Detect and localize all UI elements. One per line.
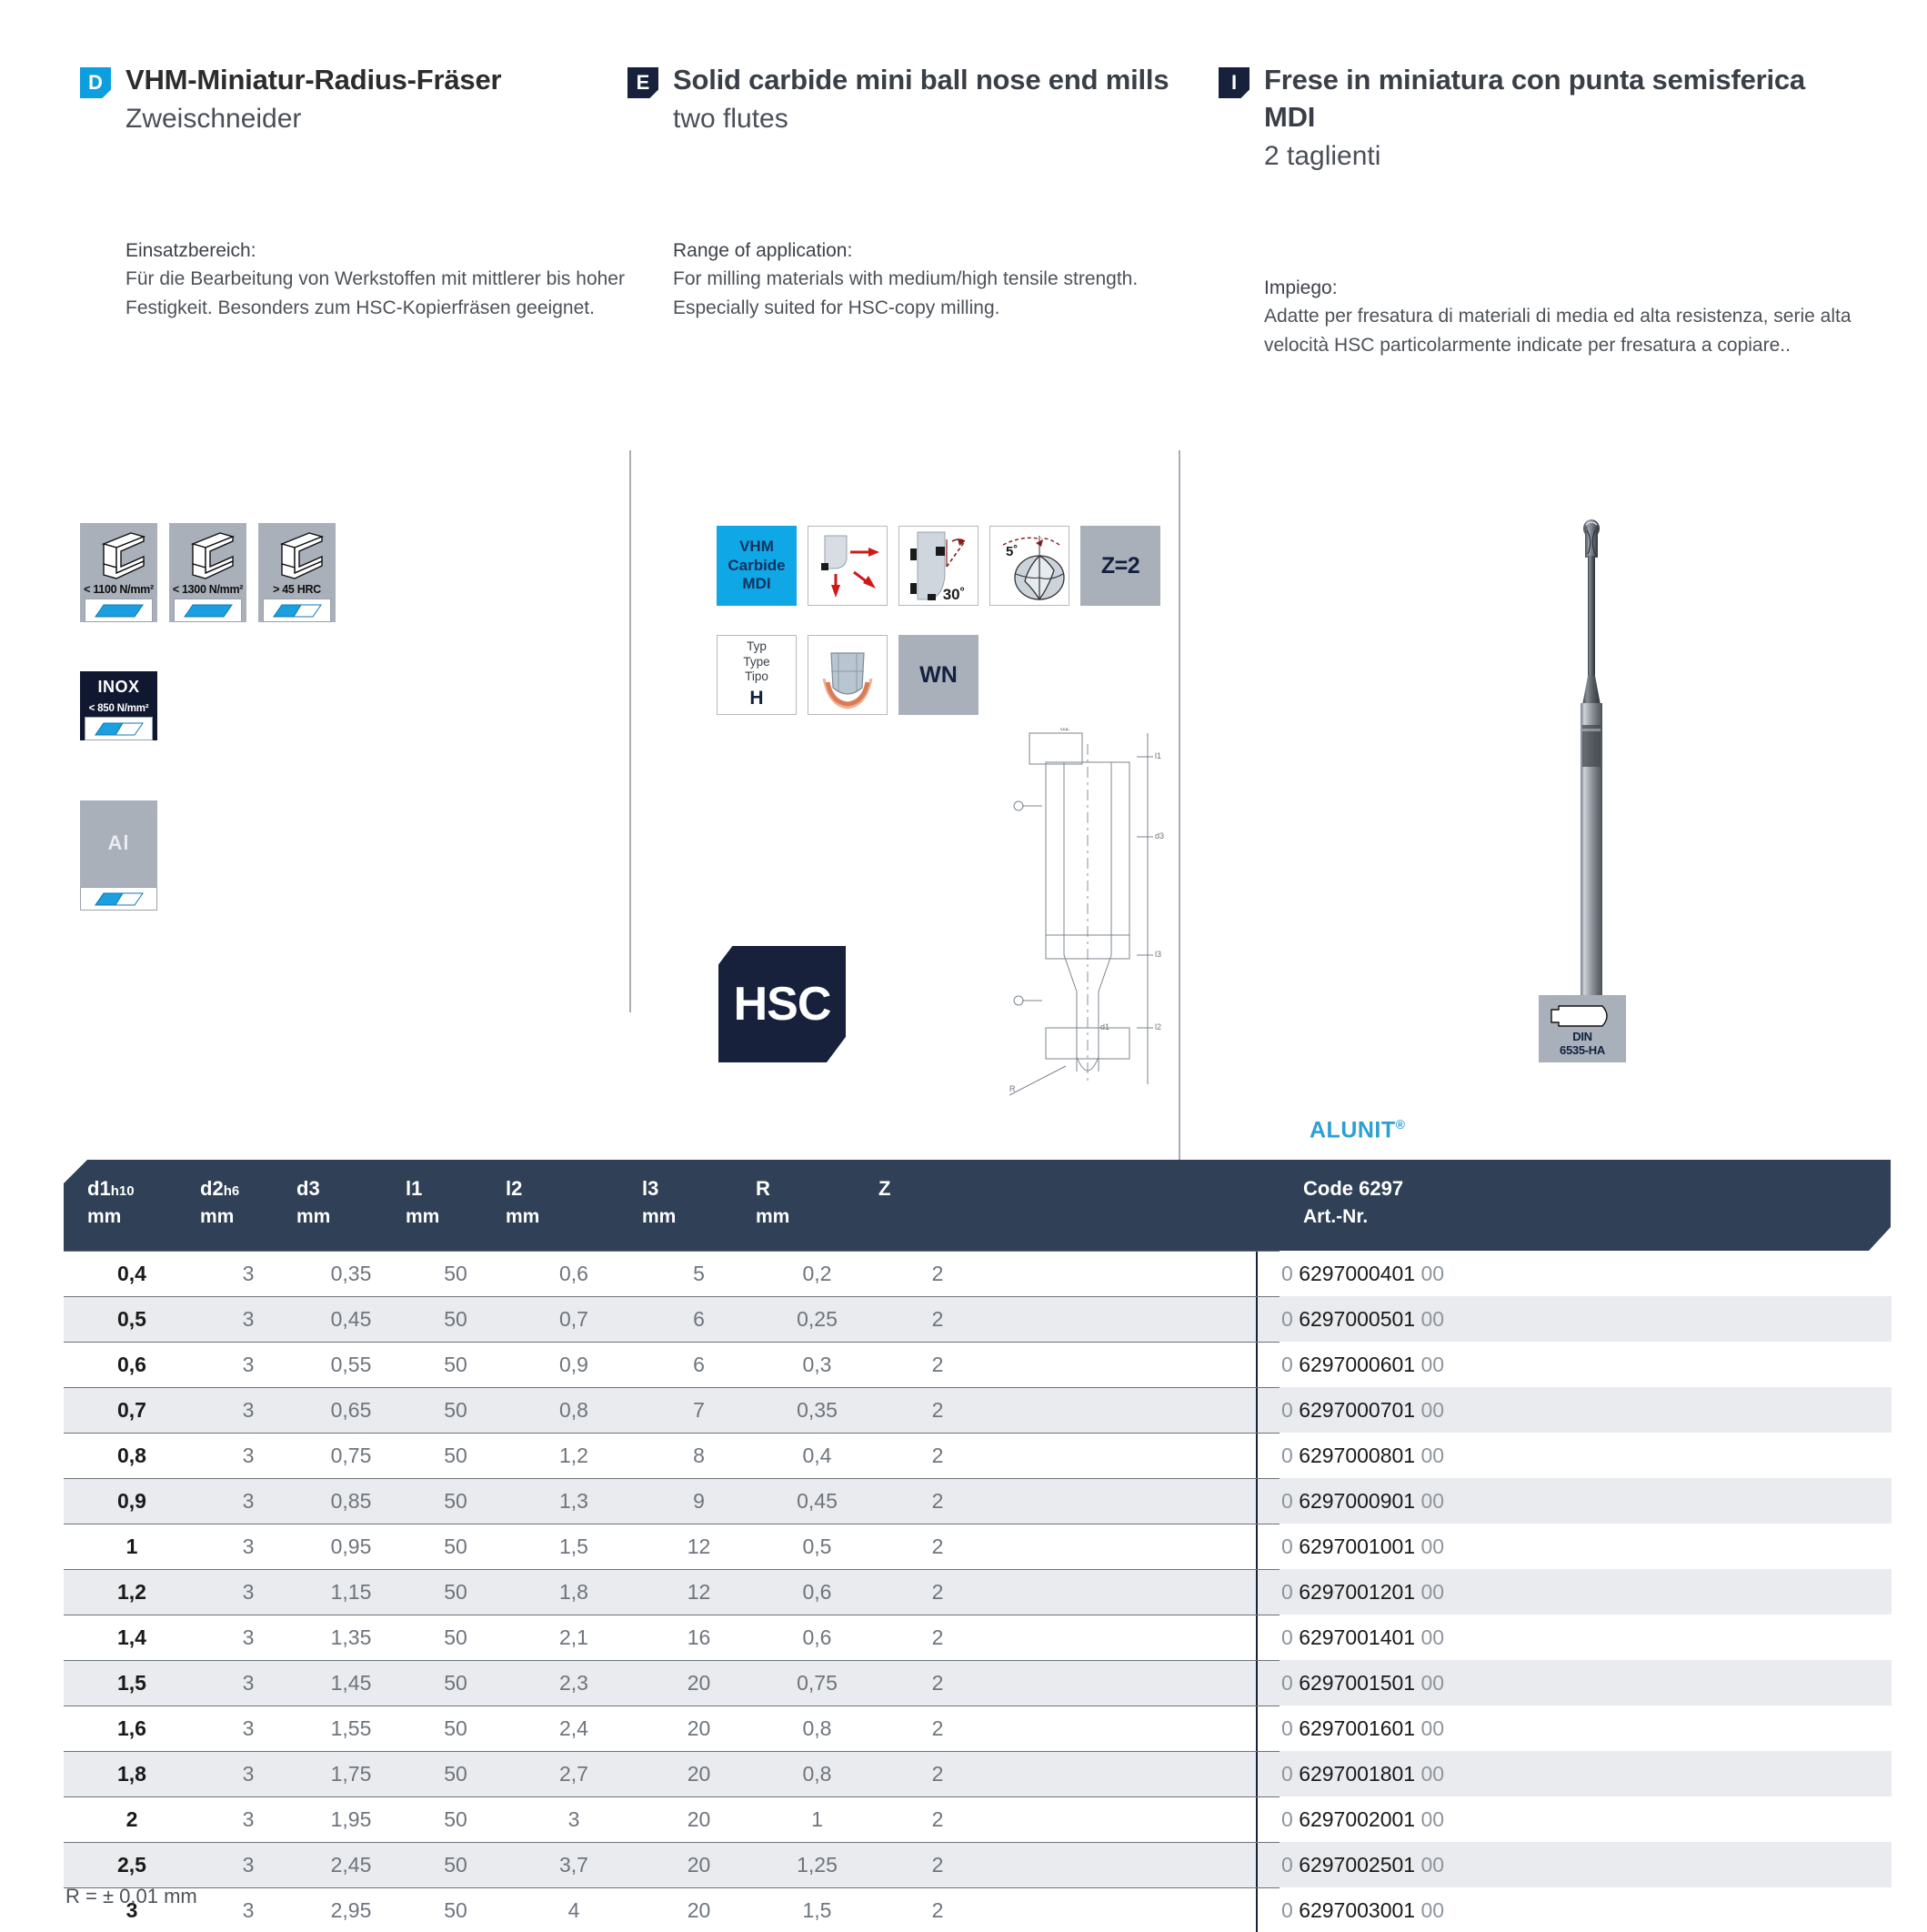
- type-label-de: Typ: [743, 639, 769, 654]
- header-code: Code 6297 Art.-Nr.: [1303, 1174, 1403, 1231]
- title-line-de: D VHM-Miniatur-Radius-Fräser: [80, 62, 635, 99]
- coating-brand-label: ALUNIT®: [1310, 1117, 1405, 1143]
- header-d3-unit: mm: [296, 1203, 406, 1231]
- cell-l1: 50: [406, 1807, 506, 1832]
- cell-l2: 0,9: [506, 1353, 642, 1377]
- cell-article-number: 0 6297002001 00: [1256, 1796, 1892, 1842]
- cell-l3: 20: [642, 1853, 756, 1877]
- cell-l1: 50: [406, 1489, 506, 1514]
- cell-d1: 1,5: [64, 1671, 200, 1696]
- cell-l3: 20: [642, 1898, 756, 1923]
- inox-strength-label: < 850 N/mm²: [89, 703, 149, 714]
- cell-r: 0,3: [756, 1353, 878, 1377]
- cell-d1: 1,4: [64, 1625, 200, 1650]
- rake-angle-glyph: 5˚: [990, 527, 1069, 605]
- article-prefix: 0: [1281, 1398, 1299, 1422]
- cell-l3: 20: [642, 1762, 756, 1786]
- article-prefix: 0: [1281, 1762, 1299, 1786]
- cell-r: 1,25: [756, 1853, 878, 1877]
- row-separator: [64, 1524, 1280, 1524]
- cell-r: 0,75: [756, 1671, 878, 1696]
- article-suffix: 00: [1415, 1262, 1444, 1285]
- application-text-it: Adatte per fresatura di materiali di med…: [1264, 302, 1855, 360]
- row-separator: [64, 1796, 1280, 1797]
- header-l2: l2 mm: [506, 1174, 642, 1231]
- cell-r: 0,8: [756, 1716, 878, 1741]
- application-heading-en: Range of application:: [673, 236, 1209, 266]
- cell-d3: 0,45: [296, 1307, 406, 1332]
- cell-z: 2: [878, 1671, 997, 1696]
- coating-glyph: [811, 639, 884, 711]
- cell-z: 2: [878, 1762, 997, 1786]
- article-main: 6297000401: [1299, 1262, 1415, 1285]
- cell-l2: 0,8: [506, 1398, 642, 1423]
- cell-l1: 50: [406, 1762, 506, 1786]
- dim-d1: d1: [1100, 1022, 1109, 1031]
- product-title-en: Solid carbide mini ball nose end mills: [673, 62, 1169, 99]
- article-suffix: 00: [1415, 1807, 1444, 1831]
- suitability-bar: [85, 717, 153, 740]
- cell-l3: 20: [642, 1807, 756, 1832]
- cell-d1: 1,8: [64, 1762, 200, 1786]
- row-separator: [64, 1887, 1280, 1888]
- article-suffix: 00: [1415, 1671, 1444, 1695]
- article-suffix: 00: [1415, 1535, 1444, 1558]
- article-main: 6297001001: [1299, 1535, 1415, 1558]
- cell-l3: 8: [642, 1444, 756, 1468]
- header-d1: d1h10 mm: [64, 1174, 200, 1231]
- article-prefix: 0: [1281, 1262, 1299, 1285]
- article-prefix: 0: [1281, 1716, 1299, 1740]
- flute-count-label: Z=2: [1101, 553, 1139, 579]
- rake-angle-icon: 5˚: [989, 526, 1069, 606]
- header-d2: d2h6 mm: [200, 1174, 296, 1231]
- table-row: 0,430,35500,650,220 6297000401 00: [64, 1251, 1892, 1296]
- type-icon: Typ Type Tipo H: [717, 635, 797, 715]
- article-main: 6297001601: [1299, 1716, 1415, 1740]
- cell-d1: 2,5: [64, 1853, 200, 1877]
- hsc-badge: HSC: [718, 946, 846, 1062]
- header-l3-name: l3: [642, 1177, 658, 1200]
- cell-d3: 0,95: [296, 1535, 406, 1559]
- cell-z: 2: [878, 1489, 997, 1514]
- column-divider-left: [629, 450, 631, 1012]
- tool-dimension-drawing: d2 l1 d3 l3 l2 R d1: [1009, 728, 1273, 1110]
- article-suffix: 00: [1415, 1398, 1444, 1422]
- cell-d1: 0,7: [64, 1398, 200, 1423]
- suitability-bar: [85, 599, 153, 622]
- cell-d2: 3: [200, 1807, 296, 1832]
- cell-article-number: 0 6297001201 00: [1256, 1569, 1892, 1615]
- cell-z: 2: [878, 1898, 997, 1923]
- article-prefix: 0: [1281, 1807, 1299, 1831]
- feature-icon-row-1: VHM Carbide MDI: [717, 526, 1160, 606]
- suitability-bar: [80, 887, 157, 911]
- cell-l1: 50: [406, 1853, 506, 1877]
- cell-z: 2: [878, 1307, 997, 1332]
- cell-l3: 12: [642, 1580, 756, 1605]
- cell-d2: 3: [200, 1398, 296, 1423]
- cell-d1: 2: [64, 1807, 200, 1832]
- dim-l3: l3: [1155, 950, 1161, 959]
- cell-z: 2: [878, 1262, 997, 1286]
- din-line-2: 6535-HA: [1560, 1043, 1605, 1057]
- cell-l3: 20: [642, 1716, 756, 1741]
- language-column-it: I Frese in miniatura con punta semisferi…: [1219, 62, 1855, 360]
- cell-l2: 0,6: [506, 1262, 642, 1286]
- rake-angle-value: 5˚: [1006, 544, 1018, 559]
- hsc-label: HSC: [734, 977, 831, 1031]
- header-code-line-1: Code 6297: [1303, 1177, 1403, 1200]
- cell-d1: 0,6: [64, 1353, 200, 1377]
- cell-z: 2: [878, 1853, 997, 1877]
- dim-l2: l2: [1155, 1022, 1161, 1031]
- language-column-de: D VHM-Miniatur-Radius-Fräser Zweischneid…: [80, 62, 635, 323]
- row-separator: [64, 1706, 1280, 1706]
- helix-angle-icon: 30˚: [898, 526, 979, 606]
- material-label: < 1100 N/mm²: [84, 583, 154, 596]
- cell-r: 0,5: [756, 1535, 878, 1559]
- header-d2-unit: mm: [200, 1203, 296, 1231]
- cell-z: 2: [878, 1625, 997, 1650]
- cell-r: 0,35: [756, 1398, 878, 1423]
- cell-r: 0,2: [756, 1262, 878, 1286]
- cell-l2: 0,7: [506, 1307, 642, 1332]
- article-suffix: 00: [1415, 1353, 1444, 1376]
- article-prefix: 0: [1281, 1535, 1299, 1558]
- cell-d2: 3: [200, 1671, 296, 1696]
- cell-l2: 2,1: [506, 1625, 642, 1650]
- table-header-dimensions: d1h10 mm d2h6 mm d3 mm l1 mm l2 mm: [64, 1160, 1280, 1251]
- cell-l1: 50: [406, 1444, 506, 1468]
- dim-l1: l1: [1155, 751, 1161, 760]
- steel-beam-icon: [269, 528, 326, 582]
- cell-d3: 2,95: [296, 1898, 406, 1923]
- cell-d2: 3: [200, 1535, 296, 1559]
- row-separator: [64, 1842, 1280, 1843]
- cell-l1: 50: [406, 1580, 506, 1605]
- article-prefix: 0: [1281, 1307, 1299, 1331]
- vhm-line-2: Carbide: [728, 557, 785, 576]
- cell-d1: 1,6: [64, 1716, 200, 1741]
- cell-l1: 50: [406, 1898, 506, 1923]
- header-z: Z: [878, 1174, 997, 1203]
- table-row: 1,531,45502,3200,7520 6297001501 00: [64, 1660, 1892, 1706]
- article-prefix: 0: [1281, 1353, 1299, 1376]
- material-icon-aluminium: Al: [80, 800, 157, 911]
- cell-z: 2: [878, 1398, 997, 1423]
- cell-d3: 1,45: [296, 1671, 406, 1696]
- dimension-table: d1h10 mm d2h6 mm d3 mm l1 mm l2 mm: [64, 1160, 1892, 1932]
- article-suffix: 00: [1415, 1898, 1444, 1922]
- row-separator: [64, 1751, 1280, 1752]
- cell-d2: 3: [200, 1489, 296, 1514]
- material-icon-45hrc: > 45 HRC: [258, 523, 336, 622]
- article-prefix: 0: [1281, 1580, 1299, 1604]
- material-icon-inox: INOX < 850 N/mm²: [80, 671, 157, 740]
- cell-r: 1: [756, 1807, 878, 1832]
- table-row: 1,231,15501,8120,620 6297001201 00: [64, 1569, 1892, 1615]
- header-l1: l1 mm: [406, 1174, 506, 1231]
- article-prefix: 0: [1281, 1444, 1299, 1467]
- article-main: 6297000701: [1299, 1398, 1415, 1422]
- cell-d2: 3: [200, 1716, 296, 1741]
- suitability-half-icon: [95, 722, 144, 736]
- cell-d2: 3: [200, 1762, 296, 1786]
- table-header-row: d1h10 mm d2h6 mm d3 mm l1 mm l2 mm: [64, 1160, 1892, 1251]
- article-suffix: 00: [1415, 1625, 1444, 1649]
- dim-d2: d2: [1060, 728, 1069, 732]
- suitability-half-icon: [273, 604, 322, 618]
- material-icon-1100: < 1100 N/mm²: [80, 523, 157, 622]
- cell-d3: 0,85: [296, 1489, 406, 1514]
- cell-article-number: 0 6297000801 00: [1256, 1433, 1892, 1478]
- cell-r: 0,25: [756, 1307, 878, 1332]
- cell-d2: 3: [200, 1625, 296, 1650]
- article-prefix: 0: [1281, 1671, 1299, 1695]
- milling-direction-icon: [808, 526, 888, 606]
- table-row: 231,9550320120 6297002001 00: [64, 1796, 1892, 1842]
- cell-d3: 0,75: [296, 1444, 406, 1468]
- header-l3: l3 mm: [642, 1174, 756, 1231]
- header-d1-name: d1: [87, 1177, 111, 1200]
- header-l3-unit: mm: [642, 1203, 756, 1231]
- header-d2-tolerance: h6: [224, 1183, 240, 1199]
- table-row: 130,95501,5120,520 6297001001 00: [64, 1524, 1892, 1569]
- vhm-line-1: VHM: [728, 538, 785, 557]
- header-r-name: R: [756, 1177, 770, 1200]
- vhm-carbide-mdi-label: VHM Carbide MDI: [728, 538, 785, 594]
- cell-d2: 3: [200, 1580, 296, 1605]
- cell-d2: 3: [200, 1898, 296, 1923]
- language-badge-de: D: [80, 67, 111, 98]
- table-row: 1,431,35502,1160,620 6297001401 00: [64, 1615, 1892, 1660]
- cell-d1: 0,5: [64, 1307, 200, 1332]
- table-row: 332,95504201,520 6297003001 00: [64, 1887, 1892, 1932]
- shank-icon: [1550, 1002, 1615, 1030]
- article-main: 6297001801: [1299, 1762, 1415, 1786]
- table-footnote: R = ± 0,01 mm: [65, 1885, 197, 1908]
- cell-l1: 50: [406, 1625, 506, 1650]
- article-main: 6297002001: [1299, 1807, 1415, 1831]
- row-separator: [64, 1569, 1280, 1570]
- cell-l3: 5: [642, 1262, 756, 1286]
- cell-article-number: 0 6297000501 00: [1256, 1296, 1892, 1342]
- suitability-full-icon: [184, 604, 233, 618]
- cell-z: 2: [878, 1535, 997, 1559]
- article-main: 6297000501: [1299, 1307, 1415, 1331]
- table-row: 0,830,75501,280,420 6297000801 00: [64, 1433, 1892, 1478]
- article-main: 6297000801: [1299, 1444, 1415, 1467]
- article-suffix: 00: [1415, 1489, 1444, 1513]
- article-main: 6297000901: [1299, 1489, 1415, 1513]
- inox-label: INOX: [97, 678, 139, 697]
- application-block-it: Impiego: Adatte per fresatura di materia…: [1264, 274, 1855, 360]
- material-suitability-icons: < 1100 N/mm² < 1300 N/mm²: [80, 523, 336, 622]
- cell-d3: 0,65: [296, 1398, 406, 1423]
- helix-angle-value: 30˚: [943, 586, 966, 603]
- cell-l3: 20: [642, 1671, 756, 1696]
- row-separator: [64, 1478, 1280, 1479]
- header-l2-unit: mm: [506, 1203, 642, 1231]
- table-header-article: Code 6297 Art.-Nr.: [1280, 1160, 1891, 1251]
- header-d1-unit: mm: [87, 1203, 200, 1231]
- cell-l3: 7: [642, 1398, 756, 1423]
- din-shank-badge: DIN 6535-HA: [1539, 995, 1626, 1062]
- cell-l2: 2,3: [506, 1671, 642, 1696]
- catalog-page: D VHM-Miniatur-Radius-Fräser Zweischneid…: [0, 0, 1927, 1932]
- article-suffix: 00: [1415, 1716, 1444, 1740]
- vhm-carbide-mdi-icon: VHM Carbide MDI: [717, 526, 797, 606]
- dim-d3: d3: [1155, 831, 1164, 840]
- cell-d3: 1,15: [296, 1580, 406, 1605]
- application-block-de: Einsatzbereich: Für die Bearbeitung von …: [125, 236, 635, 323]
- cell-l2: 3: [506, 1807, 642, 1832]
- article-main: 6297001501: [1299, 1671, 1415, 1695]
- cell-l1: 50: [406, 1671, 506, 1696]
- type-label-en: Type: [743, 655, 769, 669]
- suitability-bar: [263, 599, 331, 622]
- table-row: 2,532,45503,7201,2520 6297002501 00: [64, 1842, 1892, 1887]
- steel-beam-icon: [91, 528, 147, 582]
- cell-d2: 3: [200, 1353, 296, 1377]
- wn-icon: WN: [898, 635, 979, 715]
- header-r-unit: mm: [756, 1203, 878, 1231]
- cell-d2: 3: [200, 1853, 296, 1877]
- cell-d3: 1,75: [296, 1762, 406, 1786]
- table-row: 1,831,75502,7200,820 6297001801 00: [64, 1751, 1892, 1796]
- language-header-row: D VHM-Miniatur-Radius-Fräser Zweischneid…: [0, 0, 1927, 473]
- type-stack: Typ Type Tipo H: [743, 639, 769, 709]
- product-subtitle-de: Zweischneider: [125, 101, 635, 136]
- cell-z: 2: [878, 1807, 997, 1832]
- cell-z: 2: [878, 1716, 997, 1741]
- din-line-1: DIN: [1572, 1030, 1592, 1043]
- steel-beam-icon: [180, 528, 236, 582]
- article-suffix: 00: [1415, 1307, 1444, 1331]
- cell-l2: 1,5: [506, 1535, 642, 1559]
- cell-d1: 0,9: [64, 1489, 200, 1514]
- cell-d1: 1,2: [64, 1580, 200, 1605]
- vhm-line-3: MDI: [728, 575, 785, 594]
- cell-z: 2: [878, 1353, 997, 1377]
- article-prefix: 0: [1281, 1625, 1299, 1649]
- product-subtitle-en: two flutes: [673, 101, 1209, 136]
- cell-r: 0,8: [756, 1762, 878, 1786]
- language-column-en: E Solid carbide mini ball nose end mills…: [627, 62, 1209, 323]
- header-d3-name: d3: [296, 1177, 320, 1200]
- cell-l3: 12: [642, 1535, 756, 1559]
- article-suffix: 00: [1415, 1580, 1444, 1604]
- row-separator: [64, 1387, 1280, 1388]
- feature-icon-row-2: Typ Type Tipo H WN: [717, 635, 979, 715]
- header-z-name: Z: [878, 1177, 890, 1200]
- row-separator: [64, 1660, 1280, 1661]
- cell-r: 0,45: [756, 1489, 878, 1514]
- row-separator: [64, 1615, 1280, 1615]
- cell-l3: 6: [642, 1307, 756, 1332]
- cell-l1: 50: [406, 1398, 506, 1423]
- article-suffix: 00: [1415, 1762, 1444, 1786]
- article-prefix: 0: [1281, 1489, 1299, 1513]
- cell-d3: 1,95: [296, 1807, 406, 1832]
- cell-l1: 50: [406, 1353, 506, 1377]
- header-d1-tolerance: h10: [111, 1183, 135, 1199]
- cell-l3: 9: [642, 1489, 756, 1514]
- article-suffix: 00: [1415, 1853, 1444, 1877]
- header-l1-unit: mm: [406, 1203, 506, 1231]
- cell-article-number: 0 6297002501 00: [1256, 1842, 1892, 1887]
- table-body: 0,430,35500,650,220 6297000401 000,530,4…: [64, 1251, 1892, 1932]
- cell-r: 1,5: [756, 1898, 878, 1923]
- title-line-it: I Frese in miniatura con punta semisferi…: [1219, 62, 1855, 136]
- product-subtitle-it: 2 taglienti: [1264, 138, 1855, 174]
- coating-brand-text: ALUNIT: [1310, 1117, 1396, 1142]
- table-row: 1,631,55502,4200,820 6297001601 00: [64, 1706, 1892, 1751]
- cell-r: 0,6: [756, 1580, 878, 1605]
- cell-d3: 1,55: [296, 1716, 406, 1741]
- cell-article-number: 0 6297001501 00: [1256, 1660, 1892, 1706]
- application-heading-de: Einsatzbereich:: [125, 236, 635, 266]
- cell-d3: 2,45: [296, 1853, 406, 1877]
- cell-l3: 16: [642, 1625, 756, 1650]
- header-code-line-2: Art.-Nr.: [1303, 1203, 1403, 1231]
- cell-l2: 3,7: [506, 1853, 642, 1877]
- language-badge-it: I: [1219, 67, 1250, 98]
- article-main: 6297001401: [1299, 1625, 1415, 1649]
- header-l2-name: l2: [506, 1177, 522, 1200]
- article-suffix: 00: [1415, 1444, 1444, 1467]
- cell-d3: 0,35: [296, 1262, 406, 1286]
- row-separator: [64, 1296, 1280, 1297]
- table-row: 0,530,45500,760,2520 6297000501 00: [64, 1296, 1892, 1342]
- cell-article-number: 0 6297000601 00: [1256, 1342, 1892, 1387]
- header-l1-name: l1: [406, 1177, 422, 1200]
- article-main: 6297002501: [1299, 1853, 1415, 1877]
- cell-l2: 2,4: [506, 1716, 642, 1741]
- helix-angle-glyph: 30˚: [899, 527, 978, 605]
- article-main: 6297000601: [1299, 1353, 1415, 1376]
- cell-d2: 3: [200, 1444, 296, 1468]
- product-title-de: VHM-Miniatur-Radius-Fräser: [125, 62, 501, 99]
- cell-d1: 0,4: [64, 1262, 200, 1286]
- cell-d1: 0,8: [64, 1444, 200, 1468]
- material-icon-1300: < 1300 N/mm²: [169, 523, 246, 622]
- cell-l2: 2,7: [506, 1762, 642, 1786]
- cell-l1: 50: [406, 1307, 506, 1332]
- suitability-bar: [174, 599, 242, 622]
- suitability-full-icon: [95, 604, 144, 618]
- cell-l1: 50: [406, 1535, 506, 1559]
- product-title-it: Frese in miniatura con punta semisferica…: [1264, 62, 1855, 136]
- cell-d2: 3: [200, 1262, 296, 1286]
- cell-l3: 6: [642, 1353, 756, 1377]
- cell-article-number: 0 6297001001 00: [1256, 1524, 1892, 1569]
- row-separator: [64, 1251, 1280, 1252]
- cell-r: 0,6: [756, 1625, 878, 1650]
- application-text-en: For milling materials with medium/high t…: [673, 265, 1209, 323]
- header-d2-name: d2: [200, 1177, 224, 1200]
- aluminium-label: Al: [108, 831, 130, 884]
- application-text-de: Für die Bearbeitung von Werkstoffen mit …: [125, 265, 635, 323]
- application-block-en: Range of application: For milling materi…: [673, 236, 1209, 323]
- material-label: < 1300 N/mm²: [173, 583, 243, 596]
- table-row: 0,630,55500,960,320 6297000601 00: [64, 1342, 1892, 1387]
- cell-article-number: 0 6297000701 00: [1256, 1387, 1892, 1433]
- type-label-it: Tipo: [743, 669, 769, 684]
- cell-article-number: 0 6297001401 00: [1256, 1615, 1892, 1660]
- article-main: 6297003001: [1299, 1898, 1415, 1922]
